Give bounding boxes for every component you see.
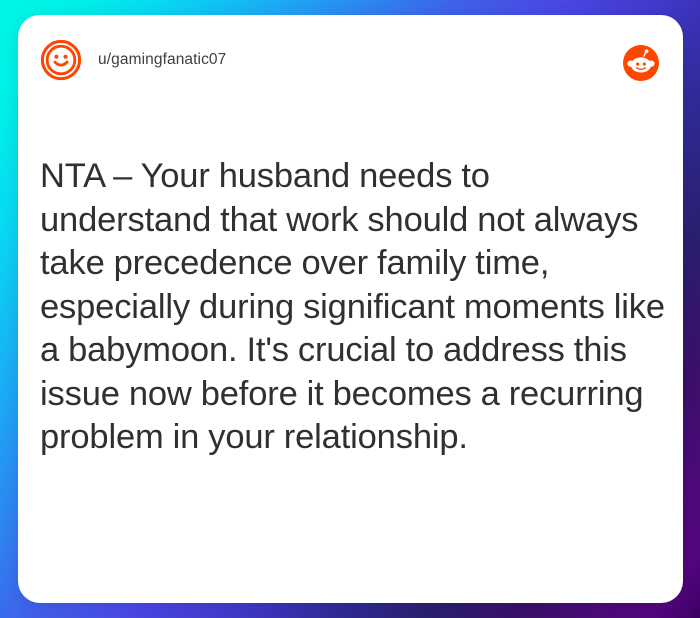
post-body-text: NTA – Your husband needs to understand t… [40,155,665,460]
card-header: u/gamingfanatic07 [18,15,683,105]
screenshot-root: u/gamingfanatic07 NTA – Your husband nee… [0,0,700,618]
smiley-face-avatar-icon[interactable] [40,39,82,81]
username-label: u/gamingfanatic07 [98,51,226,69]
reddit-comment-card: u/gamingfanatic07 NTA – Your husband nee… [18,15,683,603]
reddit-snoo-logo-icon[interactable] [623,45,659,81]
